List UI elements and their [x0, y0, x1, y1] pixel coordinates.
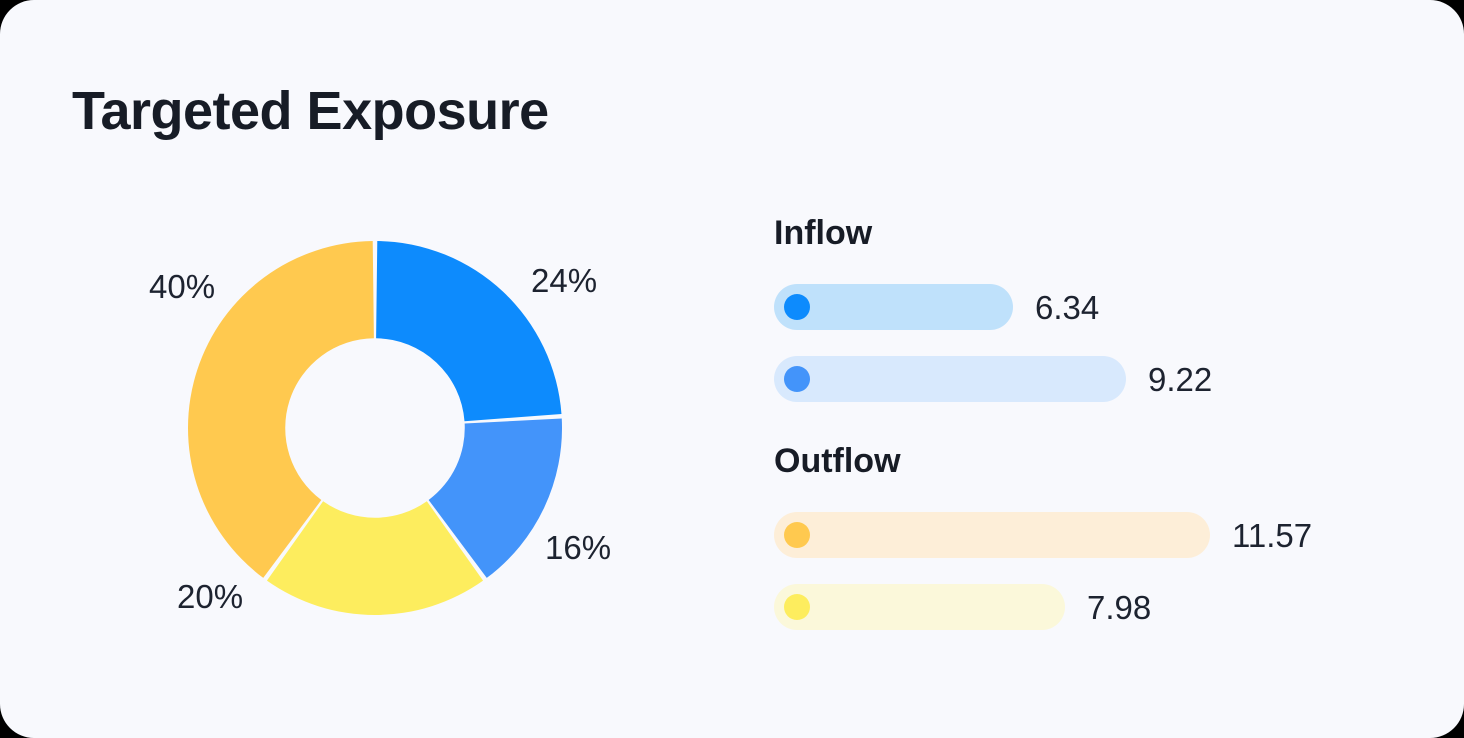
inflow-bar-row-2: 9.22 [774, 356, 1212, 402]
inflow-bar-track-1[interactable] [774, 284, 1013, 330]
outflow-bar-dot-1 [784, 522, 810, 548]
donut-chart [188, 241, 562, 615]
outflow-bar-row-2: 7.98 [774, 584, 1151, 630]
outflow-bar-value-2: 7.98 [1087, 591, 1151, 624]
inflow-bar-value-1: 6.34 [1035, 291, 1099, 324]
inflow-bar-row-1: 6.34 [774, 284, 1099, 330]
donut-label-segment-1: 24% [531, 262, 597, 300]
inflow-bar-track-2[interactable] [774, 356, 1126, 402]
donut-label-segment-3: 20% [177, 578, 243, 616]
inflow-group-title: Inflow [774, 216, 872, 250]
outflow-bar-value-1: 11.57 [1232, 519, 1312, 552]
donut-label-segment-4: 40% [149, 268, 215, 306]
page-title: Targeted Exposure [72, 82, 549, 141]
inflow-bar-value-2: 9.22 [1148, 363, 1212, 396]
inflow-bar-dot-1 [784, 294, 810, 320]
donut-chart-svg [188, 241, 562, 615]
donut-label-segment-2: 16% [545, 529, 611, 567]
outflow-bar-track-2[interactable] [774, 584, 1065, 630]
outflow-bar-row-1: 11.57 [774, 512, 1312, 558]
inflow-bar-dot-2 [784, 366, 810, 392]
outflow-bar-dot-2 [784, 594, 810, 620]
targeted-exposure-card: Targeted Exposure 24% 16% 20% 40% Inflow… [0, 0, 1464, 738]
outflow-bar-track-1[interactable] [774, 512, 1210, 558]
outflow-group-title: Outflow [774, 444, 901, 478]
